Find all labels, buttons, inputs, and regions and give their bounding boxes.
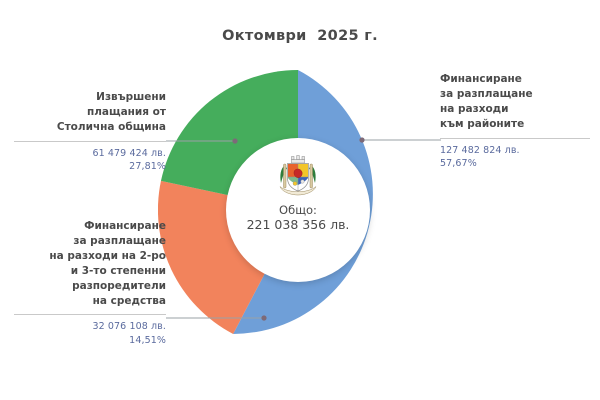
- callout-districts-rule: [440, 138, 590, 139]
- callout-districts-value: 127 482 824 лв.: [440, 144, 590, 158]
- callout-spenders[interactable]: Финансиране за разплащане на разходи на …: [14, 219, 166, 348]
- callout-spenders-percent: 14,51%: [14, 334, 166, 348]
- center-total-label: Общо:: [279, 203, 317, 217]
- donut-chart-figure: Октомври 2025 г.: [0, 0, 600, 400]
- donut-chart: Общо: 221 038 356 лв.: [158, 70, 438, 350]
- callout-payments-value: 61 479 424 лв.: [14, 147, 166, 161]
- sofia-municipality-coat-of-arms-icon: [275, 155, 321, 197]
- callout-spenders-rule: [14, 314, 166, 315]
- callout-districts[interactable]: Финансиране за разплащане на разходи към…: [440, 72, 590, 171]
- callout-districts-title: Финансиране за разплащане на разходи към…: [440, 72, 590, 132]
- callout-spenders-value: 32 076 108 лв.: [14, 320, 166, 334]
- callout-payments-title: Извършени плащания от Столична община: [14, 90, 166, 135]
- page-title: Октомври 2025 г.: [0, 28, 600, 44]
- callout-payments-rule: [14, 141, 166, 142]
- callout-spenders-title: Финансиране за разплащане на разходи на …: [14, 219, 166, 308]
- center-total-value: 221 038 356 лв.: [247, 217, 350, 233]
- callout-payments[interactable]: Извършени плащания от Столична община 61…: [14, 90, 166, 174]
- donut-center: Общо: 221 038 356 лв.: [226, 138, 370, 282]
- callout-districts-percent: 57,67%: [440, 157, 590, 171]
- callout-payments-percent: 27,81%: [14, 160, 166, 174]
